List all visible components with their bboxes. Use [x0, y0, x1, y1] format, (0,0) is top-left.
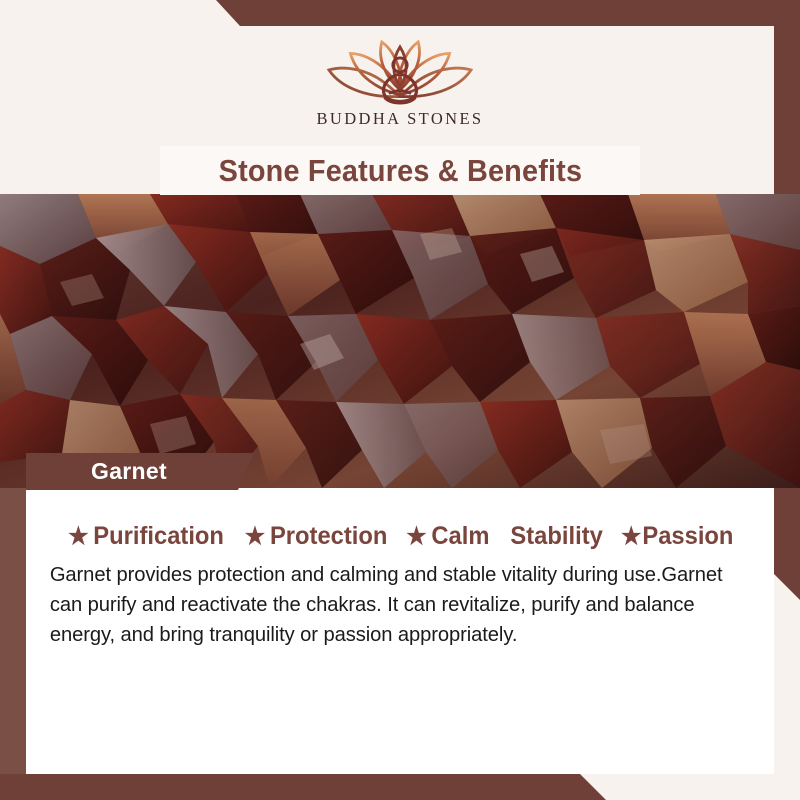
- star-icon: ★: [68, 525, 88, 549]
- page-title: Stone Features & Benefits: [218, 153, 582, 189]
- title-band: Stone Features & Benefits: [160, 146, 640, 195]
- feature-item-passion: ★Passion: [621, 522, 733, 551]
- brand-name: BUDDHA STONES: [316, 109, 483, 129]
- feature-item-purification: ★Purification: [68, 522, 224, 551]
- feature-item-calm: ★Calm: [406, 522, 489, 551]
- feature-label: Calm: [431, 522, 489, 551]
- feature-item-stability: ★Stability: [510, 522, 602, 551]
- infographic-poster: BUDDHA STONES Stone Features & Benefits: [0, 0, 800, 800]
- feature-list: ★Purification★Protection★Calm★Stability★…: [38, 522, 762, 551]
- stone-name-banner: Garnet: [26, 453, 254, 490]
- feature-item-protection: ★Protection: [245, 522, 388, 551]
- frame-top-bar: [0, 0, 800, 26]
- stone-name: Garnet: [91, 458, 167, 485]
- star-icon: ★: [406, 525, 426, 549]
- feature-label: Passion: [642, 522, 733, 551]
- frame-bottom-bar: [0, 774, 800, 800]
- description-text: Garnet provides protection and calming a…: [38, 560, 751, 650]
- brand-header: BUDDHA STONES: [26, 26, 774, 145]
- feature-label: Stability: [510, 522, 602, 551]
- frame-left-bar: [0, 487, 26, 800]
- content-panel: ★Purification★Protection★Calm★Stability★…: [26, 488, 774, 774]
- stone-photo: [0, 194, 800, 488]
- star-icon: ★: [621, 525, 641, 549]
- star-icon: ★: [245, 525, 265, 549]
- lotus-meditation-icon: [315, 32, 485, 108]
- feature-label: Purification: [93, 522, 224, 551]
- feature-label: Protection: [270, 522, 387, 551]
